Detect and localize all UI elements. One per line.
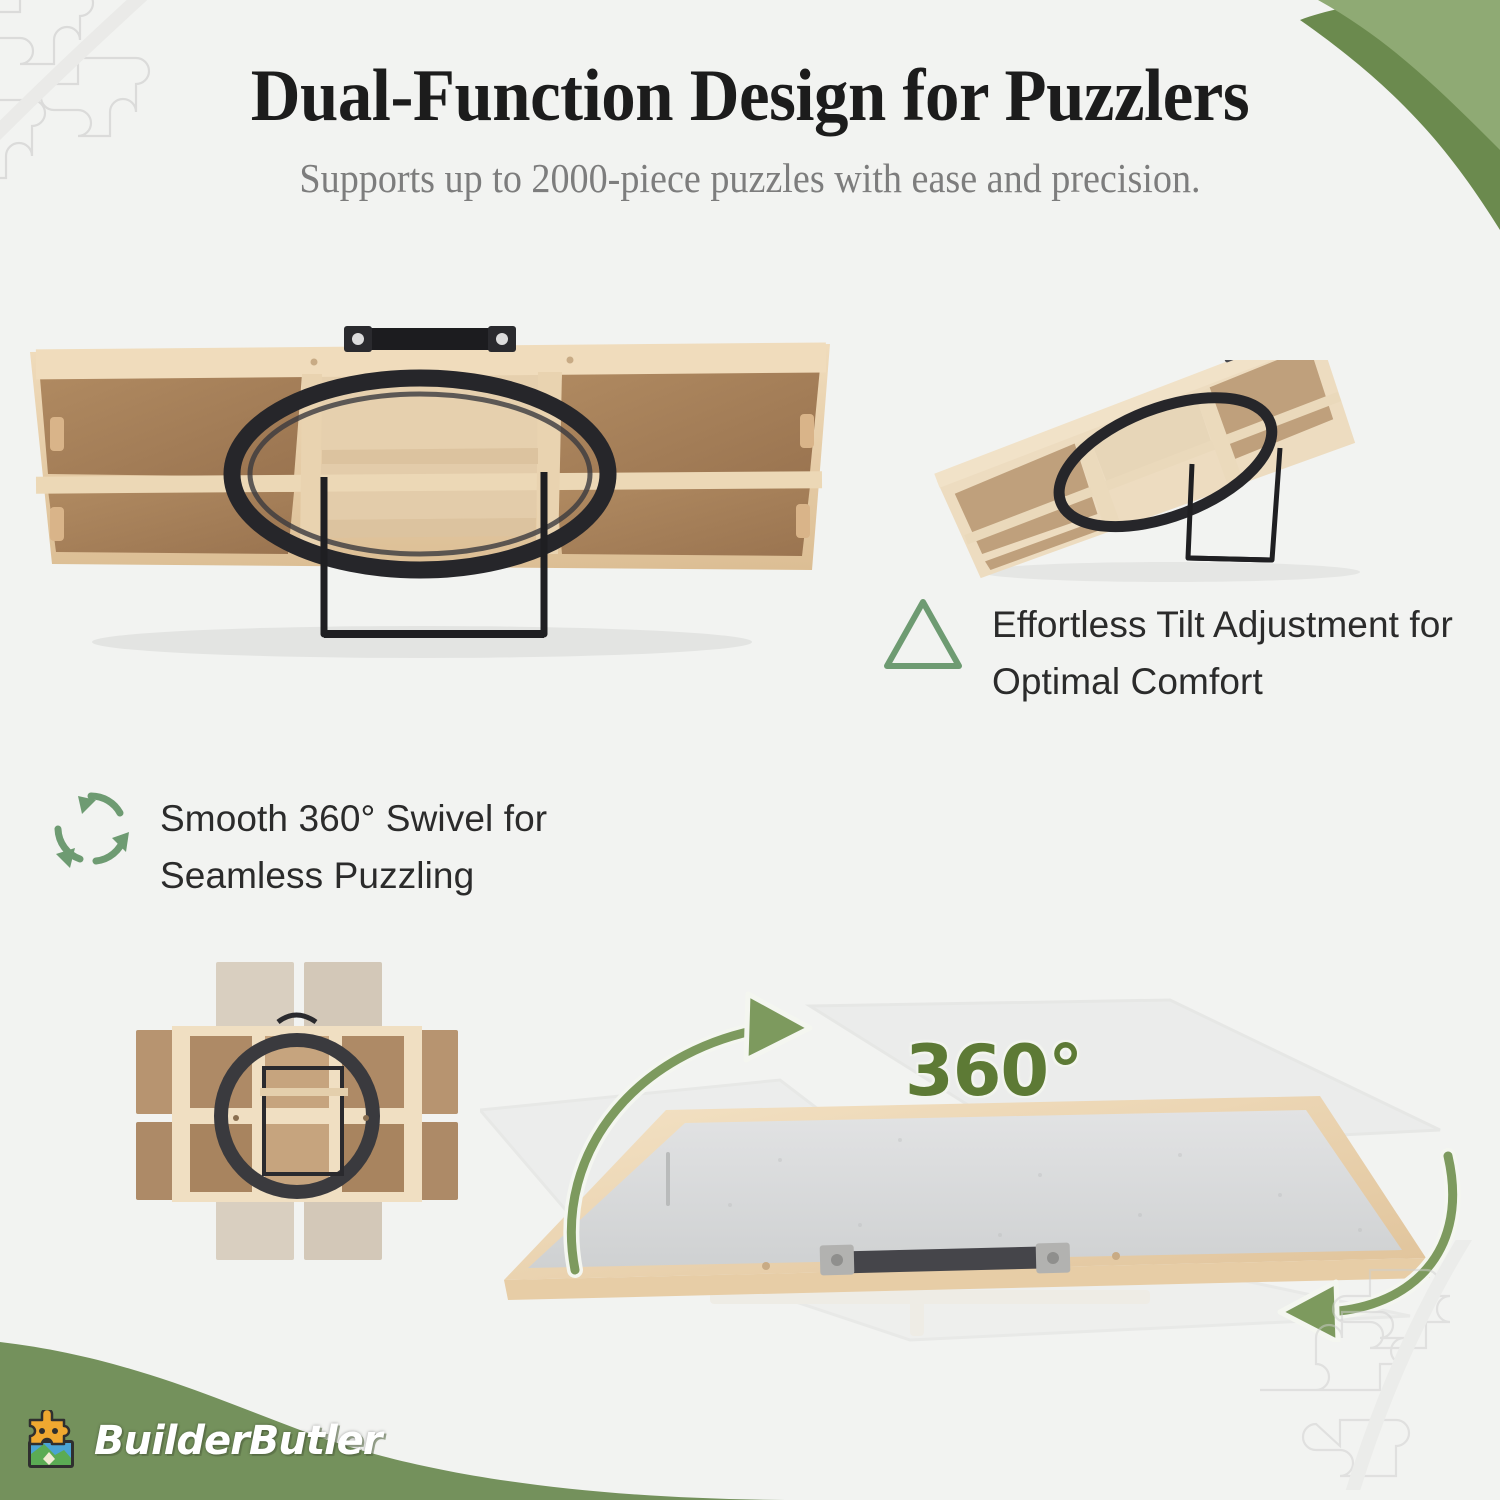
feature-tilt-adjustment: Effortless Tilt Adjustment for Optimal C… xyxy=(880,592,1480,711)
page-title: Dual-Function Design for Puzzlers xyxy=(53,58,1448,136)
page-subtitle: Supports up to 2000-piece puzzles with e… xyxy=(53,154,1448,202)
feature-tilt-line1: Effortless Tilt Adjustment for xyxy=(992,596,1453,653)
brand-name: BuilderButler xyxy=(94,1418,382,1464)
product-photo-rotation xyxy=(480,960,1462,1342)
rotation-badge: 360° xyxy=(905,1030,1082,1112)
product-photo-tilt xyxy=(920,360,1382,584)
product-photo-main xyxy=(22,322,838,662)
product-photo-flat-back xyxy=(112,952,480,1270)
feature-swivel-line2: Seamless Puzzling xyxy=(160,847,547,904)
header: Dual-Function Design for Puzzlers Suppor… xyxy=(0,58,1500,202)
feature-tilt-line2: Optimal Comfort xyxy=(992,653,1453,710)
rotate-circle-icon xyxy=(48,786,134,872)
brand-logo: BuilderButler xyxy=(22,1410,382,1472)
feature-swivel: Smooth 360° Swivel for Seamless Puzzling xyxy=(48,786,608,905)
triangle-icon xyxy=(880,592,966,678)
infographic-page: Dual-Function Design for Puzzlers Suppor… xyxy=(0,0,1500,1500)
puzzle-piece-logo-icon xyxy=(22,1410,82,1472)
feature-swivel-line1: Smooth 360° Swivel for xyxy=(160,790,547,847)
feature-swivel-text: Smooth 360° Swivel for Seamless Puzzling xyxy=(160,786,547,905)
feature-tilt-text: Effortless Tilt Adjustment for Optimal C… xyxy=(992,592,1453,711)
